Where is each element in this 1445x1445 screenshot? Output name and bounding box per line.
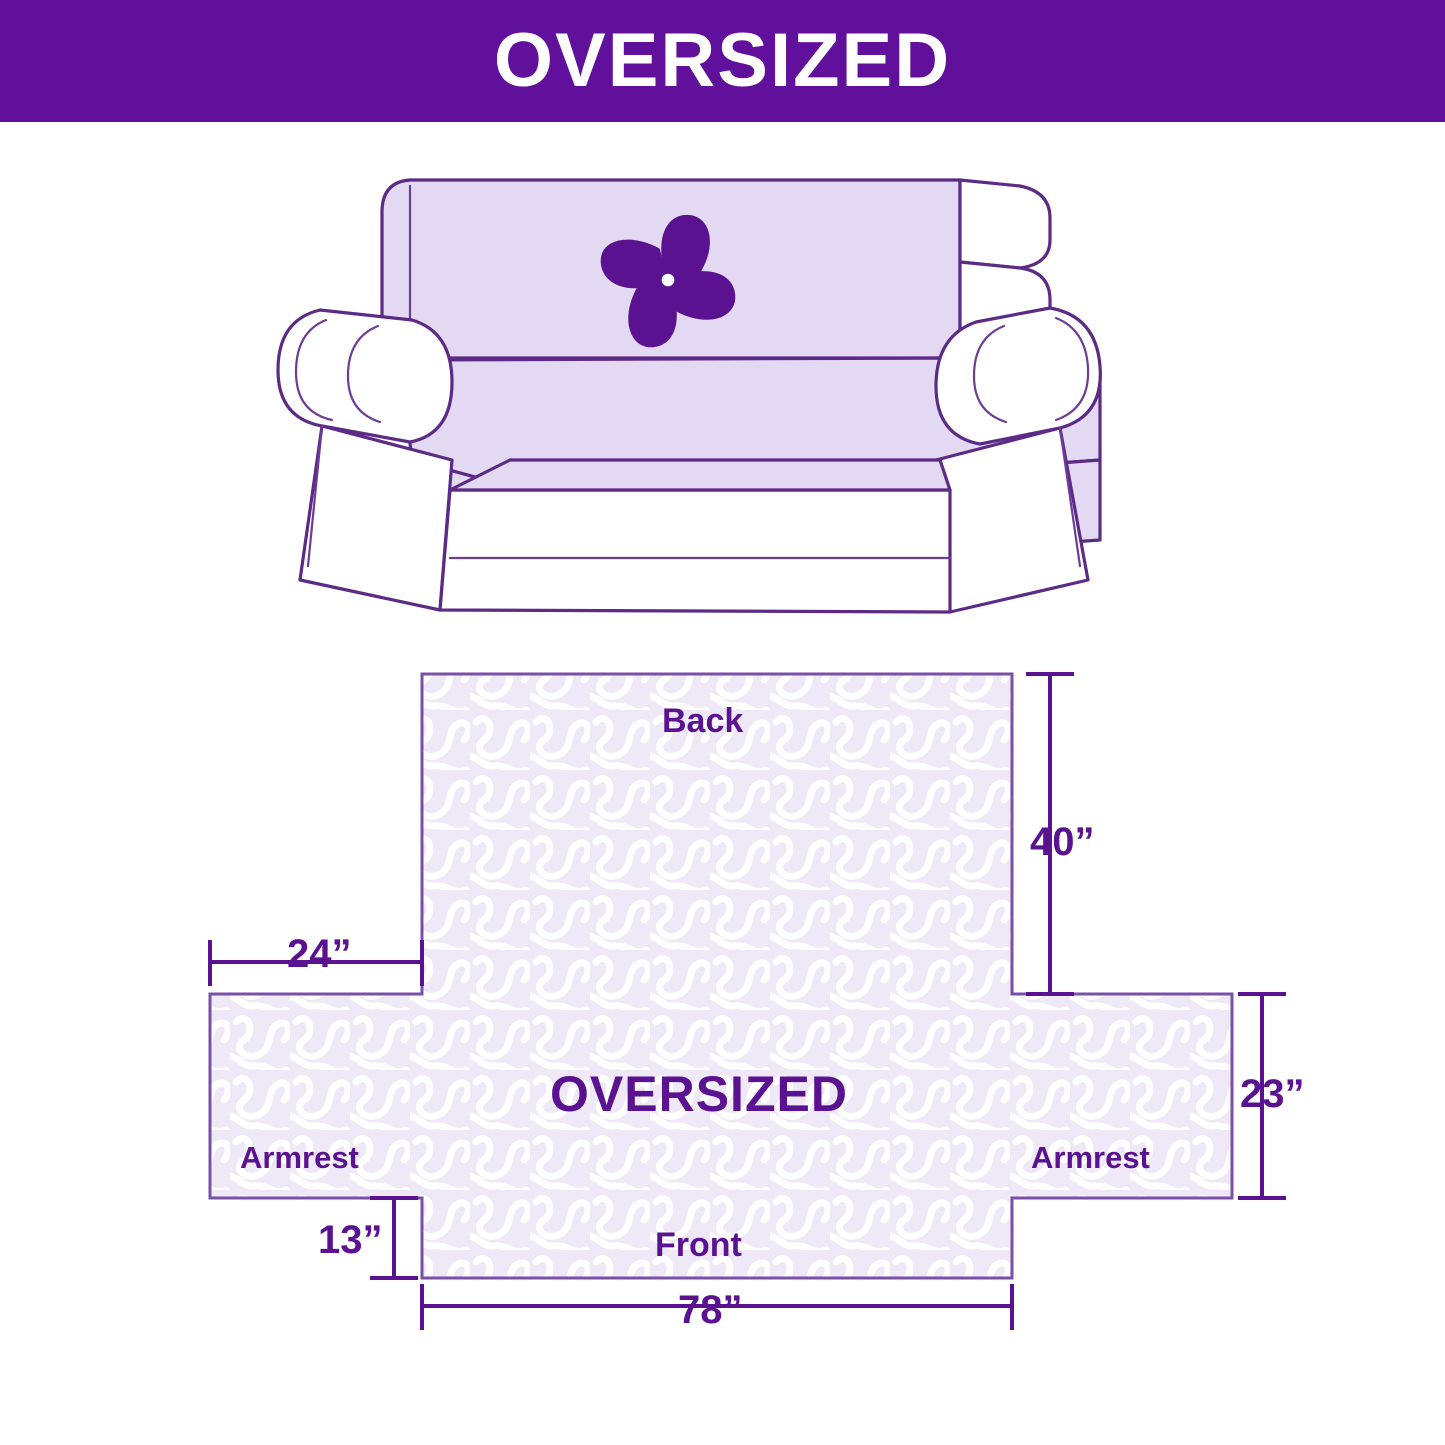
dimension-label-back-height: 40”	[1030, 820, 1095, 865]
cover-shape	[210, 674, 1232, 1278]
label-back: Back	[662, 702, 743, 741]
dimension-label-front-drop: 13”	[318, 1218, 383, 1263]
page-root: OVERSIZED .ol { fill:none; stroke:#5b2b8…	[0, 0, 1445, 1445]
header-banner: OVERSIZED	[0, 0, 1445, 122]
dimension-label-armrest-width: 23”	[1240, 1072, 1305, 1117]
label-center-oversized: OVERSIZED	[550, 1065, 848, 1123]
label-armrest-right: Armrest	[1031, 1140, 1150, 1176]
label-armrest-left: Armrest	[240, 1140, 359, 1176]
page-title: OVERSIZED	[494, 23, 951, 99]
sofa-illustration: .ol { fill:none; stroke:#5b2b86; stroke-…	[260, 160, 1200, 630]
dimension-label-armrest-length: 24”	[287, 932, 352, 977]
label-front: Front	[655, 1226, 742, 1265]
dimension-label-front-width: 78”	[678, 1288, 743, 1333]
